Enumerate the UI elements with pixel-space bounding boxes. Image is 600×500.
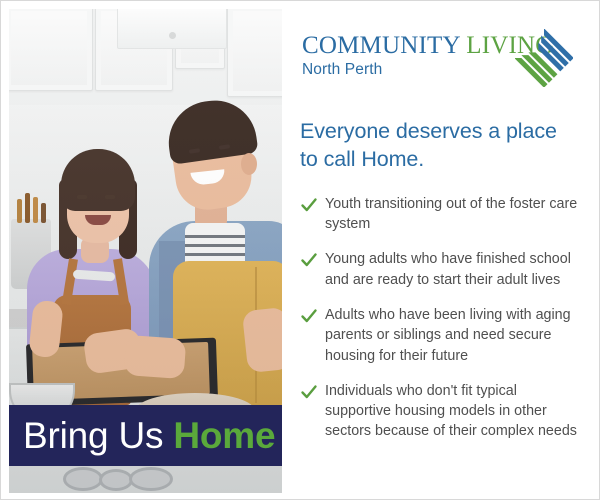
- utensil: [41, 203, 46, 223]
- list-item-label: Youth transitioning out of the foster ca…: [325, 194, 579, 235]
- list-item-label: Young adults who have finished school an…: [325, 249, 579, 290]
- cabinet-door: [227, 9, 282, 97]
- list-item-label: Individuals who don't fit typical suppor…: [325, 381, 579, 442]
- list-item-label: Adults who have been living with aging p…: [325, 305, 579, 366]
- checkmark-icon: [300, 307, 318, 325]
- page-headline: Everyone deserves a place to call Home.: [300, 117, 579, 174]
- logo-word-community: COMMUNITY: [302, 32, 460, 59]
- list-item: Adults who have been living with aging p…: [300, 305, 579, 366]
- utensil: [25, 193, 30, 223]
- list-item: Youth transitioning out of the foster ca…: [300, 194, 579, 235]
- utensil: [33, 197, 38, 223]
- range-hood: [117, 9, 227, 49]
- eye-left: [77, 195, 87, 199]
- bring-us-home-banner: Bring Us Home: [9, 405, 282, 466]
- banner-text-white: Bring Us: [23, 415, 163, 456]
- checkmark-icon: [300, 196, 318, 214]
- cookie-cutter: [99, 469, 133, 491]
- eye-right: [105, 195, 115, 199]
- list-item: Individuals who don't fit typical suppor…: [300, 381, 579, 442]
- checkmark-icon: [300, 251, 318, 269]
- cookie-cutter: [129, 467, 173, 491]
- flyer-page: Bring Us Home COMMUNITY LIVING North Per…: [0, 0, 600, 500]
- checkmark-icon: [300, 383, 318, 401]
- ear: [241, 153, 257, 175]
- banner-text-green: Home: [173, 415, 275, 456]
- hand: [124, 335, 187, 379]
- eligibility-list: Youth transitioning out of the foster ca…: [300, 194, 579, 442]
- cookie-cutter: [63, 467, 103, 491]
- hand: [242, 307, 282, 373]
- content-panel: COMMUNITY LIVING North Perth: [290, 9, 593, 493]
- banner-text: Bring Us Home: [9, 417, 275, 454]
- list-item: Young adults who have finished school an…: [300, 249, 579, 290]
- hair: [61, 149, 135, 211]
- utensil: [17, 199, 22, 223]
- cabinet-door: [9, 9, 93, 91]
- diamond-chevron-logo-mark: [515, 29, 573, 87]
- organization-logo: COMMUNITY LIVING North Perth: [300, 31, 579, 93]
